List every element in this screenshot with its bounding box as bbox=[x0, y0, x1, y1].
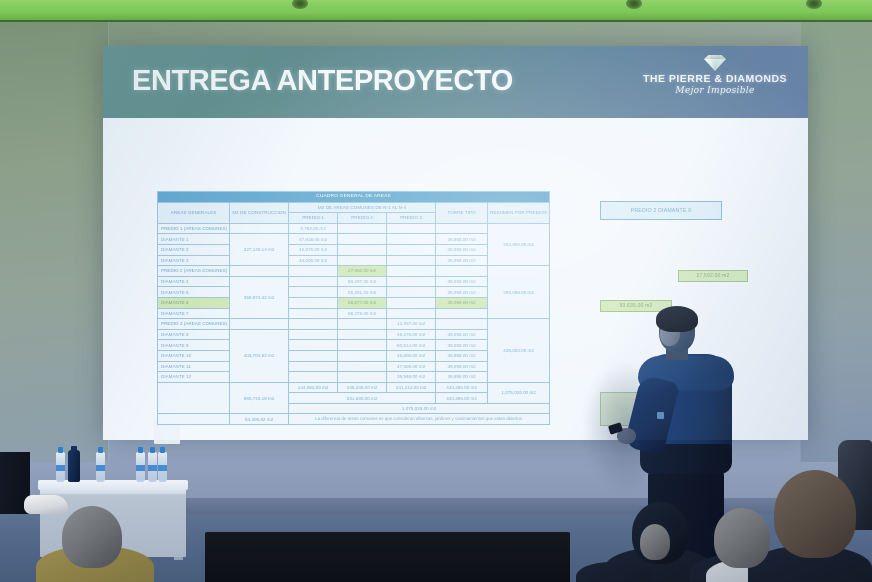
callout-predio-2-diamante-6: PREDIO 2 DIAMANTE 6 bbox=[600, 201, 722, 220]
cell-predio-3 bbox=[387, 308, 436, 319]
cell-predio-2 bbox=[338, 234, 387, 245]
group-comunes-predio-1: 8,783.00 m2 bbox=[289, 223, 338, 234]
cell-torre-tipo: 36,958.00 m2 bbox=[436, 276, 488, 287]
cell-predio-2: 55,291.00 m2 bbox=[338, 287, 387, 298]
empty-cell bbox=[230, 319, 289, 330]
ceiling-light-strip bbox=[0, 0, 872, 22]
thermos-flask bbox=[68, 450, 80, 482]
cell-predio-1 bbox=[289, 340, 338, 351]
cell-predio-3: 46,478.00 m2 bbox=[387, 329, 436, 340]
areas-summary-table: CUADRO GENERAL DE AREAS AREAS GENERALES … bbox=[157, 191, 550, 425]
table-header-row-1: AREAS GENERALES M2 DE CONSTRUCCION M2 DE… bbox=[158, 202, 550, 213]
audience-shoulders bbox=[576, 562, 652, 582]
audience-head bbox=[62, 506, 122, 568]
water-bottle bbox=[158, 452, 167, 482]
resumen-predio-2: 394,068.00 m2 bbox=[488, 266, 550, 319]
cell-predio-1: 44,606.00 m2 bbox=[289, 255, 338, 266]
empty-cell bbox=[289, 266, 338, 277]
empty-cell bbox=[338, 223, 387, 234]
standing-person-shoe bbox=[24, 495, 68, 514]
row-label-diamante-6: DIAMANTE 6 bbox=[158, 297, 230, 308]
total-torre-tipo: 443,496.00 m2 bbox=[436, 382, 488, 393]
header-areas-generales: AREAS GENERALES bbox=[158, 202, 230, 223]
group-label-predio-2: PREDIO 2 (AREAS COMUNES) bbox=[158, 266, 230, 277]
cell-torre-tipo: 36,958.00 m2 bbox=[436, 234, 488, 245]
cell-predio-3 bbox=[387, 276, 436, 287]
header-predio-1: PREDIO 1 bbox=[289, 213, 338, 224]
cell-torre-tipo bbox=[436, 308, 488, 319]
cell-predio-2: 56,379.00 m2 bbox=[338, 308, 387, 319]
row-label: DIAMANTE 12 bbox=[158, 372, 230, 383]
footer-diferencia-value: 84,306.82 m2 bbox=[230, 414, 289, 425]
table-row: PREDIO 3 (AREAS COMUNES) 12,557.00 m2 42… bbox=[158, 319, 550, 330]
cell-torre-tipo: 36,958.00 m2 bbox=[436, 287, 488, 298]
grand-total: 1,075,026.00 m2 bbox=[289, 403, 550, 414]
cell-torre-tipo: 36,958.00 m2 bbox=[436, 361, 488, 372]
totals-row: 990,719.18 m2 144,082.00 m2 246,236.00 m… bbox=[158, 382, 550, 393]
cell-predio-3: 46,806.00 m2 bbox=[387, 350, 436, 361]
cell-predio-3: 36,948.00 m2 bbox=[387, 372, 436, 383]
empty-cell bbox=[338, 319, 387, 330]
table-row: PREDIO 2 (AREAS COMUNES) 27,592.00 m2 39… bbox=[158, 266, 550, 277]
brand-logo: THE PIERRE & DIAMONDS Mejor Imposible bbox=[640, 54, 790, 96]
empty-cell bbox=[387, 266, 436, 277]
cell-predio-1: 47,818.00 m2 bbox=[289, 234, 338, 245]
header-m2-construccion: M2 DE CONSTRUCCION bbox=[230, 202, 289, 223]
cell-predio-2 bbox=[338, 329, 387, 340]
total-torre-tipo-repeat: 443,496.00 m2 bbox=[436, 393, 488, 404]
row-label: DIAMANTE 7 bbox=[158, 308, 230, 319]
cell-predio-3 bbox=[387, 234, 436, 245]
cell-torre-tipo: 36,958.00 m2 bbox=[436, 350, 488, 361]
total-predio-1: 144,082.00 m2 bbox=[289, 382, 338, 393]
header-resumen-predios: RESUMEN POR PREDIOS bbox=[488, 202, 550, 223]
cell-predio-1: 42,875.00 m2 bbox=[289, 244, 338, 255]
group-comunes-predio-2: 27,592.00 m2 bbox=[338, 266, 387, 277]
brand-tagline: Mejor Imposible bbox=[640, 86, 790, 96]
cell-predio-1 bbox=[289, 329, 338, 340]
cell-predio-3 bbox=[387, 287, 436, 298]
brand-name: THE PIERRE & DIAMONDS bbox=[640, 73, 790, 85]
cell-torre-tipo: 36,958.00 m2 bbox=[436, 329, 488, 340]
cell-predio-2 bbox=[338, 372, 387, 383]
empty-cell bbox=[230, 223, 289, 234]
cell-predio-2 bbox=[338, 350, 387, 361]
table-title: CUADRO GENERAL DE AREAS bbox=[158, 192, 550, 203]
monitor-display bbox=[205, 532, 570, 582]
resumen-predio-1: 254,956.00 m2 bbox=[488, 223, 550, 265]
group-comunes-predio-3: 12,557.00 m2 bbox=[387, 319, 436, 330]
empty-cell bbox=[387, 223, 436, 234]
subtotal-areas-comunes: 631,530.00 m2 bbox=[289, 393, 436, 404]
cell-torre-tipo: 36,958.00 m2 bbox=[436, 244, 488, 255]
empty-cell bbox=[230, 266, 289, 277]
empty-cell bbox=[436, 266, 488, 277]
audience-head bbox=[714, 508, 770, 568]
total-resumen: 1,075,026.00 m2 bbox=[488, 382, 550, 403]
conference-room: ENTREGA ANTEPROYECTO THE PIERR bbox=[0, 0, 872, 582]
empty-cell bbox=[158, 382, 230, 414]
footer-note: La diferencia de areas comunes es que co… bbox=[289, 414, 550, 425]
construccion-predio-2: 359,874.42 m2 bbox=[230, 276, 289, 318]
wall-panel-left bbox=[0, 22, 108, 462]
empty-cell bbox=[158, 414, 230, 425]
table-row: PREDIO 1 (AREAS COMUNES) 8,783.00 m2 254… bbox=[158, 223, 550, 234]
row-label: DIAMANTE 9 bbox=[158, 340, 230, 351]
total-construccion: 990,719.18 m2 bbox=[230, 382, 289, 414]
ceiling-downlight bbox=[292, 0, 308, 9]
presenter-hair bbox=[656, 306, 698, 332]
cell-predio-2 bbox=[338, 255, 387, 266]
cell-predio-1 bbox=[289, 287, 338, 298]
row-label: DIAMANTE 11 bbox=[158, 361, 230, 372]
audience-head bbox=[640, 524, 670, 560]
row-label: DIAMANTE 8 bbox=[158, 329, 230, 340]
row-label: DIAMANTE 1 bbox=[158, 234, 230, 245]
header-torre-tipo: TORRE TIPO bbox=[436, 202, 488, 223]
construccion-predio-1: 227,140.14 m2 bbox=[230, 234, 289, 266]
construccion-predio-3: 403,704.62 m2 bbox=[230, 329, 289, 382]
cell-predio-1 bbox=[289, 350, 338, 361]
row-label: DIAMANTE 3 bbox=[158, 255, 230, 266]
table-title-row: CUADRO GENERAL DE AREAS bbox=[158, 192, 550, 203]
callout-value-27592: 27,592.00 m2 bbox=[678, 270, 748, 282]
wall-panel-right bbox=[800, 22, 872, 462]
cell-predio-3: 47,909.00 m2 bbox=[387, 361, 436, 372]
cell-predio-2: 50,297.00 m2 bbox=[338, 276, 387, 287]
group-label-predio-3: PREDIO 3 (AREAS COMUNES) bbox=[158, 319, 230, 330]
cell-torre-tipo: 36,958.00 m2 bbox=[436, 255, 488, 266]
cell-predio-3 bbox=[387, 255, 436, 266]
ceiling-downlight bbox=[626, 0, 642, 9]
presenter-logo-badge bbox=[657, 412, 664, 419]
cell-predio-3 bbox=[387, 244, 436, 255]
empty-cell bbox=[436, 223, 488, 234]
cell-predio-1 bbox=[289, 308, 338, 319]
cell-predio-3: 50,514.00 m2 bbox=[387, 340, 436, 351]
row-label: DIAMANTE 10 bbox=[158, 350, 230, 361]
cell-predio-2 bbox=[338, 244, 387, 255]
page-title: ENTREGA ANTEPROYECTO bbox=[132, 65, 513, 98]
cell-predio-2 bbox=[338, 361, 387, 372]
cell-predio-1 bbox=[289, 297, 338, 308]
empty-cell bbox=[436, 319, 488, 330]
empty-cell bbox=[289, 319, 338, 330]
water-bottle bbox=[56, 452, 65, 482]
cell-torre-tipo: 36,958.00 m2 bbox=[436, 297, 488, 308]
header-m2-areas-comunes: M2 DE AREAS COMUNES DE N-1 AL N-4 bbox=[289, 202, 436, 213]
row-label: DIAMANTE 4 bbox=[158, 276, 230, 287]
water-bottle bbox=[148, 452, 157, 482]
header-predio-3: PREDIO 3 bbox=[387, 213, 436, 224]
cell-torre-tipo: 36,958.00 m2 bbox=[436, 372, 488, 383]
total-predio-2: 246,236.00 m2 bbox=[338, 382, 387, 393]
water-bottle bbox=[136, 452, 145, 482]
row-label: DIAMANTE 5 bbox=[158, 287, 230, 298]
header-predio-2: PREDIO 2 bbox=[338, 213, 387, 224]
group-label-predio-1: PREDIO 1 (AREAS COMUNES) bbox=[158, 223, 230, 234]
audience-head bbox=[774, 470, 856, 558]
cell-predio-1 bbox=[289, 372, 338, 383]
row-label: DIAMANTE 2 bbox=[158, 244, 230, 255]
water-bottle bbox=[96, 452, 105, 482]
cell-predio-2 bbox=[338, 340, 387, 351]
cell-predio-1 bbox=[289, 361, 338, 372]
cell-predio-2: 56,677.00 m2 bbox=[338, 297, 387, 308]
total-predio-3: 241,212.00 m2 bbox=[387, 382, 436, 393]
cell-torre-tipo: 36,958.00 m2 bbox=[436, 340, 488, 351]
diamond-icon bbox=[700, 54, 730, 72]
footer-row: 84,306.82 m2 La diferencia de areas comu… bbox=[158, 414, 550, 425]
cell-predio-1 bbox=[289, 276, 338, 287]
resumen-predio-3: 426,002.00 m2 bbox=[488, 319, 550, 383]
ceiling-downlight bbox=[806, 0, 822, 9]
cell-predio-3 bbox=[387, 297, 436, 308]
slide-header-band: ENTREGA ANTEPROYECTO THE PIERR bbox=[103, 46, 808, 118]
